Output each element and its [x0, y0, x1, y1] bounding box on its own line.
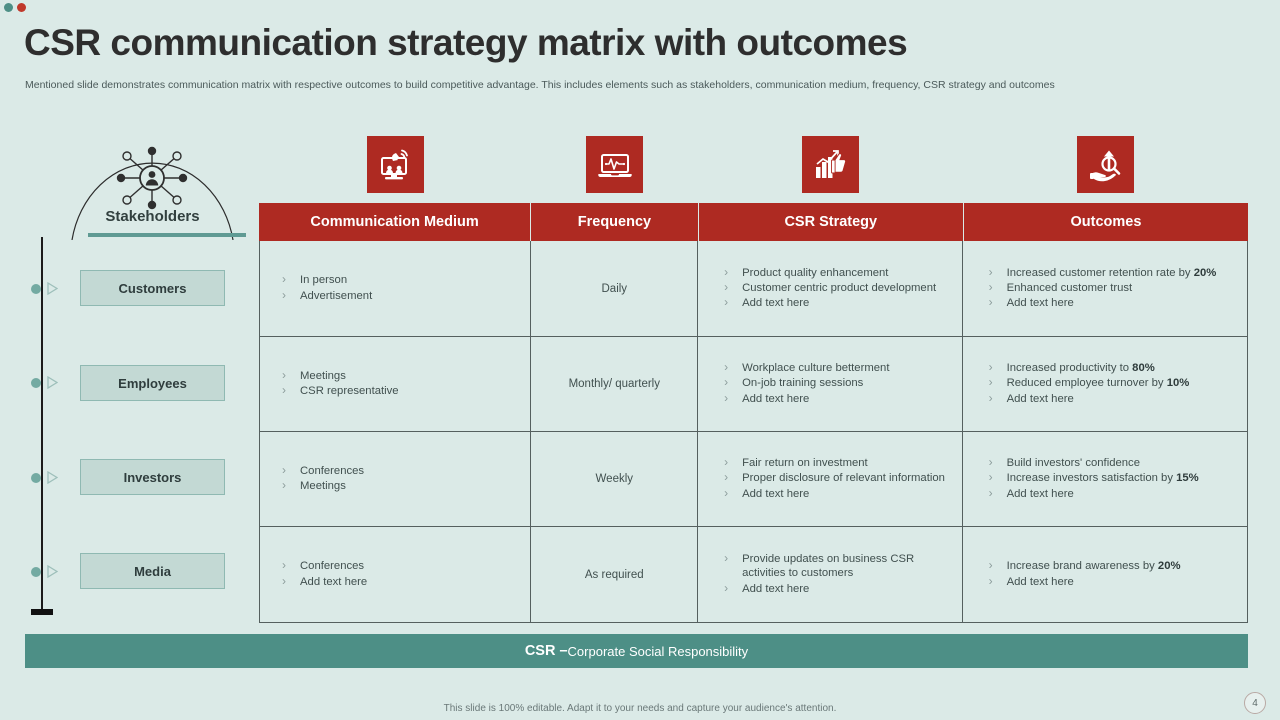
- bullet-highlight: 10%: [1167, 377, 1190, 389]
- sidebar-item-label: Customers: [119, 281, 187, 296]
- bullet-item: Add text here: [716, 296, 953, 310]
- stakeholder-network-icon: [117, 147, 187, 209]
- cell-communication-medium: MeetingsCSR representative: [260, 337, 531, 431]
- cell-communication-medium: ConferencesMeetings: [260, 432, 531, 526]
- bullet-item: Enhanced customer trust: [981, 281, 1239, 295]
- bullet-item: Advertisement: [278, 289, 522, 303]
- bullet-highlight: 15%: [1176, 472, 1199, 484]
- cell-frequency: Weekly: [531, 432, 698, 526]
- page-title: CSR communication strategy matrix with o…: [24, 22, 907, 64]
- cell-frequency: As required: [531, 527, 698, 622]
- column-header-frequency: Frequency: [531, 203, 699, 241]
- column-header-communication-medium: Communication Medium: [259, 203, 531, 241]
- bullet-item: Add text here: [716, 392, 953, 406]
- bullet-item: On-job training sessions: [716, 376, 953, 390]
- column-header-outcomes: Outcomes: [964, 203, 1248, 241]
- bullet-item: Add text here: [981, 575, 1239, 589]
- bullet-item: Add text here: [981, 392, 1239, 406]
- bullet-item: Conferences: [278, 464, 522, 478]
- cell-communication-medium: In personAdvertisement: [260, 241, 531, 336]
- bullet-item: Meetings: [278, 369, 522, 383]
- cell-frequency: Daily: [531, 241, 698, 336]
- sidebar-item-customers[interactable]: Customers: [80, 270, 225, 306]
- arrow-right-icon: [47, 282, 58, 295]
- sidebar-item-label: Media: [134, 564, 171, 579]
- bullet-item: Add text here: [981, 296, 1239, 310]
- legend-band: CSR – Corporate Social Responsibility: [25, 634, 1248, 668]
- bullet-item: Provide updates on business CSR activiti…: [716, 552, 953, 580]
- bullet-item: Add text here: [716, 582, 953, 596]
- stakeholder-node-0: [36, 282, 58, 295]
- legend-expansion: Corporate Social Responsibility: [568, 644, 749, 659]
- bullet-item: Workplace culture betterment: [716, 361, 953, 375]
- arrow-right-icon: [47, 565, 58, 578]
- bullet-item: Increase brand awareness by 20%: [981, 559, 1239, 573]
- node-bullet-icon: [31, 567, 41, 577]
- cell-outcomes: Increase brand awareness by 20%Add text …: [963, 527, 1247, 622]
- sidebar-item-media[interactable]: Media: [80, 553, 225, 589]
- bullet-item: Add text here: [981, 487, 1239, 501]
- bullet-item: In person: [278, 273, 522, 287]
- bullet-item: Increase investors satisfaction by 15%: [981, 471, 1239, 485]
- window-dots: [4, 3, 26, 12]
- legend-abbr: CSR –: [525, 643, 568, 659]
- bullet-item: CSR representative: [278, 384, 522, 398]
- stakeholder-label: Stakeholders: [70, 208, 235, 225]
- cell-csr-strategy: Fair return on investmentProper disclosu…: [698, 432, 962, 526]
- sidebar-item-label: Investors: [124, 470, 182, 485]
- bullet-item: Customer centric product development: [716, 281, 953, 295]
- cell-outcomes: Increased productivity to 80%Reduced emp…: [963, 337, 1247, 431]
- table-row: MeetingsCSR representativeMonthly/ quart…: [260, 337, 1247, 432]
- stakeholder-node-3: [36, 565, 58, 578]
- cell-communication-medium: ConferencesAdd text here: [260, 527, 531, 622]
- stakeholder-node-1: [36, 376, 58, 389]
- node-bullet-icon: [31, 284, 41, 294]
- table-row: ConferencesMeetingsWeeklyFair return on …: [260, 432, 1247, 527]
- bullet-item: Proper disclosure of relevant informatio…: [716, 471, 953, 485]
- table-body: In personAdvertisementDailyProduct quali…: [259, 241, 1248, 623]
- video-call-broadcast-icon: [367, 136, 424, 193]
- cell-outcomes: Increased customer retention rate by 20%…: [963, 241, 1247, 336]
- stakeholder-node-2: [36, 471, 58, 484]
- table-header-row: Communication Medium Frequency CSR Strat…: [259, 203, 1248, 241]
- window-dot-red: [17, 3, 26, 12]
- cell-frequency: Monthly/ quarterly: [531, 337, 698, 431]
- sidebar-item-investors[interactable]: Investors: [80, 459, 225, 495]
- table-row: ConferencesAdd text hereAs requiredProvi…: [260, 527, 1247, 622]
- matrix-table: Communication Medium Frequency CSR Strat…: [259, 203, 1248, 623]
- sidebar-item-employees[interactable]: Employees: [80, 365, 225, 401]
- cell-csr-strategy: Workplace culture bettermentOn-job train…: [698, 337, 962, 431]
- arrow-right-icon: [47, 376, 58, 389]
- bullet-highlight: 80%: [1132, 362, 1155, 374]
- slide-canvas: CSR communication strategy matrix with o…: [0, 0, 1280, 720]
- column-header-csr-strategy: CSR Strategy: [699, 203, 964, 241]
- node-bullet-icon: [31, 473, 41, 483]
- bullet-item: Add text here: [278, 575, 522, 589]
- bullet-item: Conferences: [278, 559, 522, 573]
- sidebar-item-label: Employees: [118, 376, 187, 391]
- bullet-highlight: 20%: [1158, 560, 1181, 572]
- hand-arrow-up-icon: [1077, 136, 1134, 193]
- page-subtitle: Mentioned slide demonstrates communicati…: [25, 79, 1055, 91]
- table-row: In personAdvertisementDailyProduct quali…: [260, 241, 1247, 337]
- bullet-item: Reduced employee turnover by 10%: [981, 376, 1239, 390]
- cell-outcomes: Build investors' confidenceIncrease inve…: [963, 432, 1247, 526]
- arrow-right-icon: [47, 471, 58, 484]
- stakeholder-base-bar: [88, 233, 246, 237]
- window-dot-teal: [4, 3, 13, 12]
- page-number-badge: 4: [1244, 692, 1266, 714]
- bullet-item: Increased productivity to 80%: [981, 361, 1239, 375]
- bullet-item: Add text here: [716, 487, 953, 501]
- bullet-item: Meetings: [278, 479, 522, 493]
- bullet-item: Build investors' confidence: [981, 456, 1239, 470]
- bullet-highlight: 20%: [1194, 267, 1217, 279]
- growth-chart-thumbsup-icon: [802, 136, 859, 193]
- cell-csr-strategy: Provide updates on business CSR activiti…: [698, 527, 962, 622]
- laptop-pulse-icon: [586, 136, 643, 193]
- node-bullet-icon: [31, 378, 41, 388]
- bullet-item: Increased customer retention rate by 20%: [981, 266, 1239, 280]
- bullet-item: Fair return on investment: [716, 456, 953, 470]
- footer-note: This slide is 100% editable. Adapt it to…: [0, 703, 1280, 714]
- stakeholder-spine-cap: [31, 609, 53, 615]
- cell-csr-strategy: Product quality enhancementCustomer cent…: [698, 241, 962, 336]
- bullet-item: Product quality enhancement: [716, 266, 953, 280]
